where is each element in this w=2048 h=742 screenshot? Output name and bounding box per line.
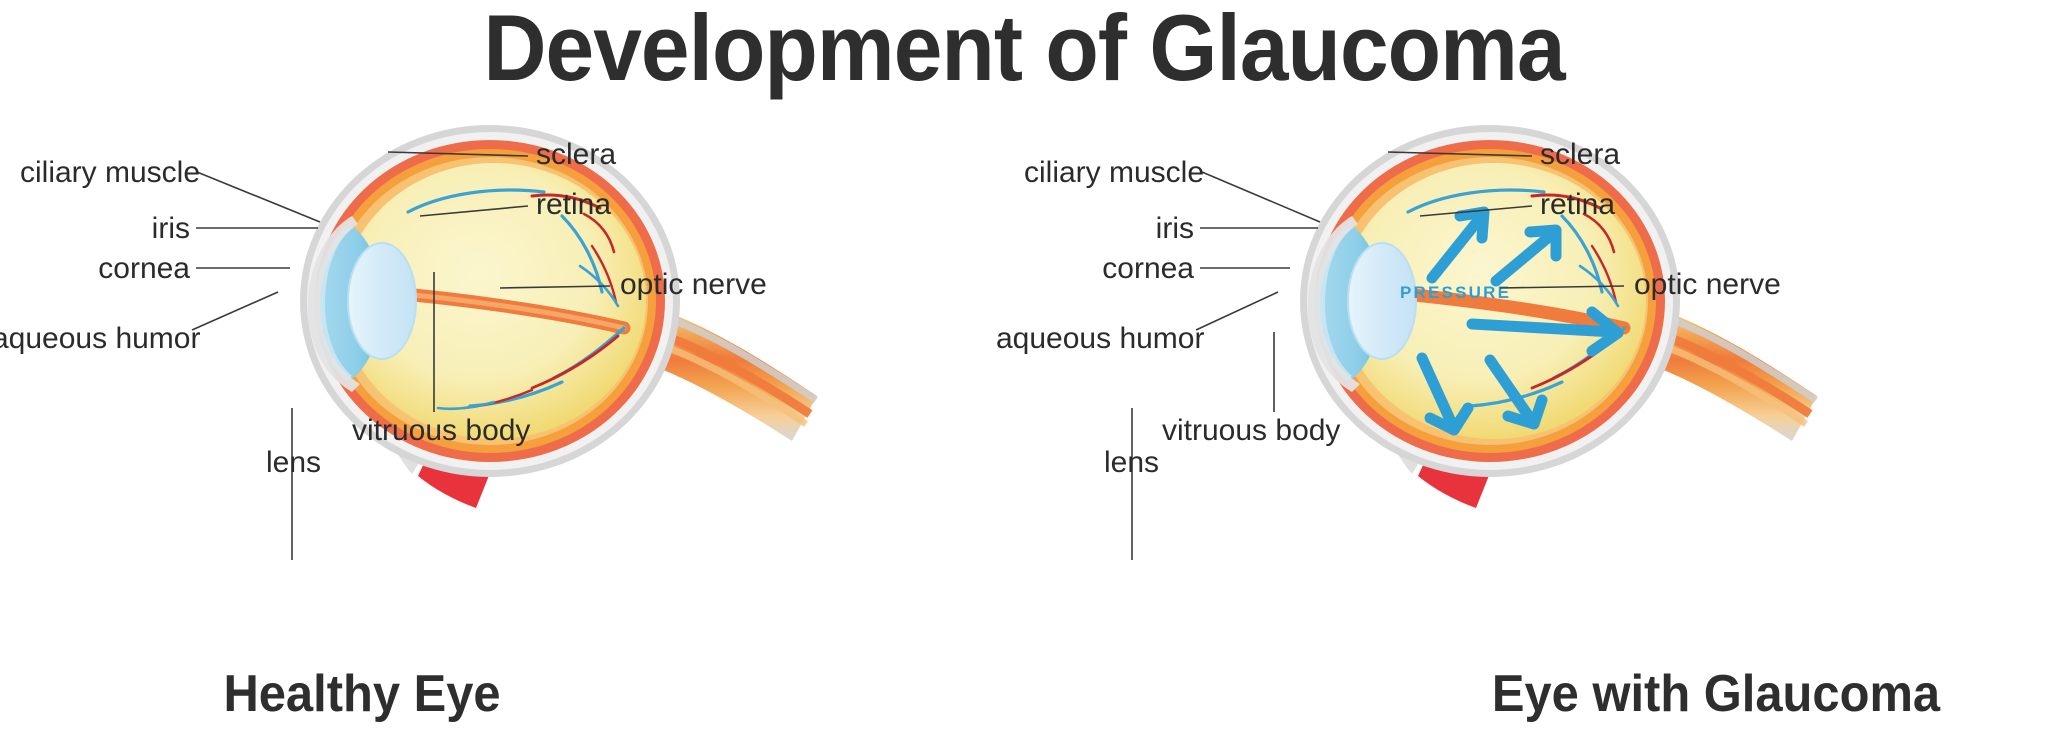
pressure-label: PRESSURE [1400, 283, 1511, 303]
panel-glaucoma-eye: PRESSURE ciliary muscle iris cornea aque… [1024, 0, 2048, 742]
label-sclera: sclera [1540, 140, 1620, 170]
label-iris: iris [20, 214, 190, 244]
label-retina: retina [1540, 190, 1615, 220]
panel-healthy-eye: ciliary muscle iris cornea aqueous humor… [0, 0, 1024, 742]
caption-healthy-eye: Healthy Eye [0, 664, 843, 724]
label-lens: lens [266, 448, 321, 478]
label-retina: retina [536, 190, 611, 220]
label-cornea: cornea [1014, 254, 1194, 284]
label-optic-nerve: optic nerve [1634, 270, 1781, 300]
label-vitruous-body: vitruous body [1162, 416, 1340, 446]
glaucoma-infographic: Development of Glaucoma [0, 0, 2048, 742]
label-sclera: sclera [536, 140, 616, 170]
label-aqueous-humor: aqueous humor [0, 324, 187, 354]
caption-glaucoma-eye: Eye with Glaucoma [1235, 664, 2048, 724]
lens [348, 243, 416, 359]
label-ciliary-muscle: ciliary muscle [20, 158, 190, 188]
label-vitruous-body: vitruous body [352, 416, 530, 446]
label-cornea: cornea [10, 254, 190, 284]
label-ciliary-muscle: ciliary muscle [1024, 158, 1194, 188]
label-optic-nerve: optic nerve [620, 270, 767, 300]
label-lens: lens [1104, 448, 1159, 478]
label-iris: iris [1024, 214, 1194, 244]
label-aqueous-humor: aqueous humor [996, 324, 1191, 354]
